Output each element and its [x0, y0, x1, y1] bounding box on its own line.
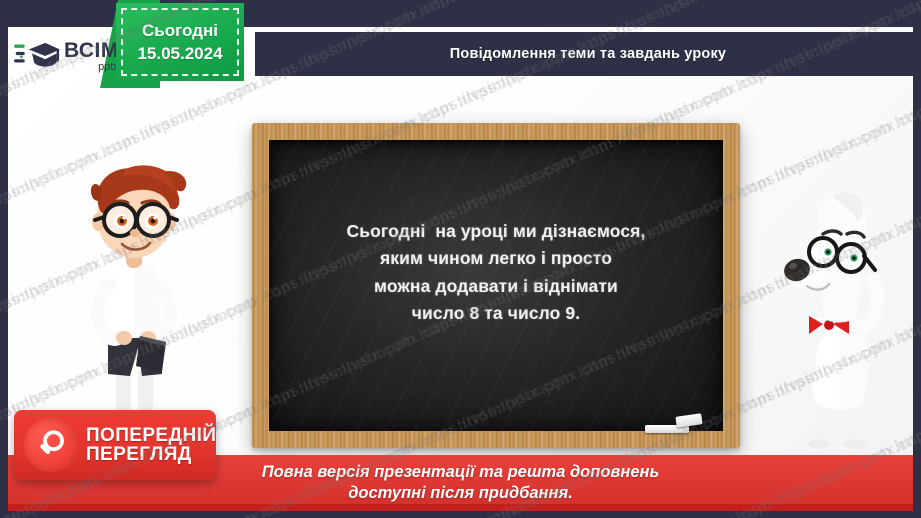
logo-main-text: ВСІМ [64, 40, 119, 61]
magnifier-icon [24, 418, 78, 472]
chalkboard-line-3: можна додавати і віднімати [347, 273, 646, 300]
page-title: Повідомлення теми та завдань уроку [450, 46, 726, 62]
date-badge-label: Сьогодні [142, 21, 218, 41]
header-bar: Повідомлення теми та завдань уроку [255, 32, 921, 76]
dog-character [775, 190, 905, 452]
preview-badge-line-2: ПЕРЕГЛЯД [86, 445, 216, 464]
banner-line-1: Повна версія презентації та решта доповн… [262, 462, 660, 483]
chalkboard-line-4: число 8 та число 9. [347, 300, 646, 327]
brand-logo[interactable]: ВСІМ pptx [8, 27, 126, 85]
chalkboard-line-2: яким чином легко і просто [347, 245, 646, 272]
date-badge-value: 15.05.2024 [137, 44, 222, 64]
chalkboard-surface: Сьогодні на уроці ми дізнаємося, яким чи… [269, 140, 723, 431]
chalkboard: Сьогодні на уроці ми дізнаємося, яким чи… [252, 123, 740, 448]
chalkboard-text: Сьогодні на уроці ми дізнаємося, яким чи… [347, 218, 646, 353]
boy-character [58, 160, 208, 418]
graduation-cap-icon [14, 38, 60, 74]
chalkboard-line-1: Сьогодні на уроці ми дізнаємося, [347, 218, 646, 245]
banner-line-2: доступні після придбання. [348, 483, 573, 504]
preview-badge[interactable]: ПОПЕРЕДНІЙ ПЕРЕГЛЯД [14, 410, 216, 480]
preview-badge-line-1: ПОПЕРЕДНІЙ [86, 426, 216, 445]
date-badge: Сьогодні 15.05.2024 [116, 3, 244, 81]
presentation-slide: Повідомлення теми та завдань уроку ВСІМ … [0, 0, 921, 518]
